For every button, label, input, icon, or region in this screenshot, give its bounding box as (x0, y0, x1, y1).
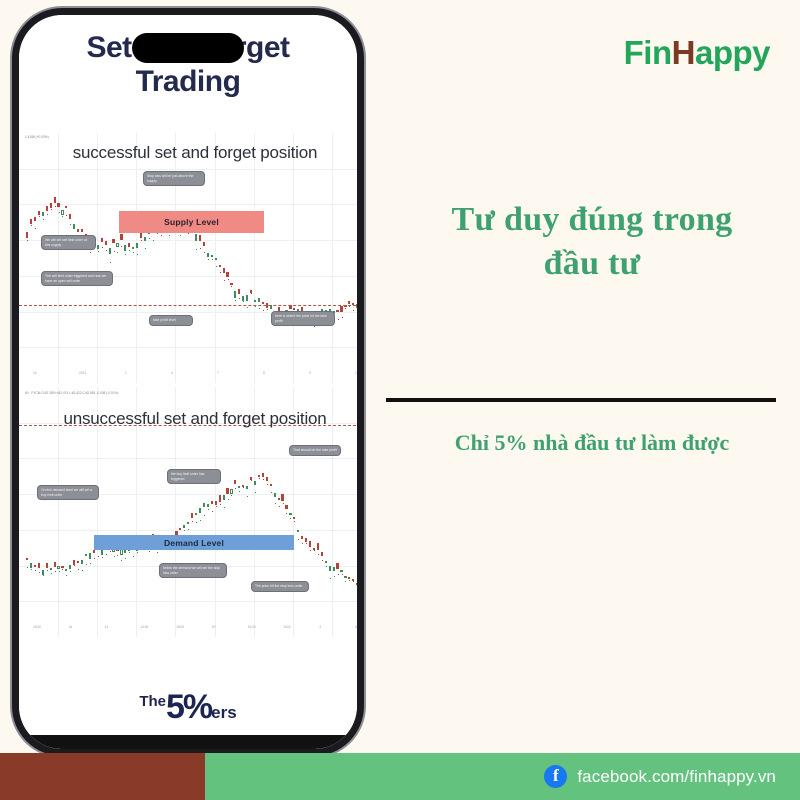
chart-1-dash-line (19, 305, 357, 306)
phone-mockup: Set and Forget Trading 1.4188 (+0.03%) s… (12, 8, 364, 756)
fiveers-number: 5% (166, 688, 211, 726)
axis-tick: 20 (212, 625, 216, 629)
axis-tick: 8 (263, 371, 265, 375)
dynamic-island (132, 33, 244, 63)
axis-tick: 7 (217, 371, 219, 375)
callout-price-hit-stop-loss: The price hit the stop loss order (251, 581, 309, 592)
axis-tick: 15:00 (33, 625, 41, 629)
chart-1-meta: 1.4188 (+0.03%) (25, 135, 49, 139)
callout-should-be-take-profit: That should be the take profit (289, 445, 341, 456)
fiveers-watermark: The5%ers (19, 688, 357, 727)
axis-tick: 21 (105, 625, 109, 629)
chart-pane-successful: 1.4188 (+0.03%) successful set and forge… (19, 133, 357, 383)
headline-line-1: Tư duy đúng trong (392, 198, 792, 242)
chart-2-x-axis: 15:00162112:0018:002019:00202436:00 (19, 625, 357, 635)
fiveers-suffix: ers (211, 703, 237, 722)
facebook-icon[interactable]: f (544, 765, 567, 788)
poster-canvas: FinHappy Tư duy đúng trong đầu tư Chỉ 5%… (0, 0, 800, 800)
subheadline: Chỉ 5% nhà đầu tư làm được (392, 430, 792, 456)
axis-tick: 16 (69, 625, 73, 629)
demand-level-zone: Demand Level (94, 535, 294, 550)
chart-1-x-axis: 1620242478910 (19, 371, 357, 381)
brand-part-h: H (672, 34, 695, 71)
phone-screen: Set and Forget Trading 1.4188 (+0.03%) s… (19, 15, 357, 749)
callout-sell-limit-order: We will set sell limit order at this sup… (41, 235, 96, 250)
screenshot-title-line-2: Trading (19, 65, 357, 99)
axis-tick: 10 (355, 371, 357, 375)
chart-1-caption: successful set and forget position (19, 143, 357, 163)
callout-demand-buy-limit: On this demand level we will set a buy l… (37, 485, 99, 500)
footer-facebook[interactable]: f facebook.com/finhappy.vn (544, 753, 776, 800)
axis-tick: 3 (319, 625, 321, 629)
axis-tick: 6:00 (355, 625, 357, 629)
chart-2-caption: unsuccessful set and forget position (19, 409, 357, 429)
axis-tick: 4 (171, 371, 173, 375)
chart-pane-unsuccessful: 60 · FXCM O:62.399 H:62.474 L:62.422 C:6… (19, 387, 357, 637)
chart-2-meta: 60 · FXCM O:62.399 H:62.474 L:62.422 C:6… (25, 391, 118, 395)
supply-level-zone: Supply Level (119, 211, 264, 233)
callout-below-demand-stop-loss: below the demand we will set the stop lo… (159, 563, 227, 578)
callout-sell-order-triggered: The sell limit order triggered and now w… (41, 271, 113, 286)
facebook-url[interactable]: facebook.com/finhappy.vn (577, 767, 776, 787)
axis-tick: 2024 (283, 625, 290, 629)
headline: Tư duy đúng trong đầu tư (392, 198, 792, 285)
axis-tick: 9 (309, 371, 311, 375)
axis-tick: 12:00 (140, 625, 148, 629)
brand-part-appy: appy (695, 34, 770, 71)
footer-brown-block (0, 753, 205, 800)
axis-tick: 2 (125, 371, 127, 375)
callout-price-hit-take-profit: here is where the price hit the take pro… (271, 311, 335, 326)
demand-level-label: Demand Level (164, 538, 224, 548)
callout-stop-loss-supply: Stop loss will be just above the supply (143, 171, 205, 186)
axis-tick: 18:00 (176, 625, 184, 629)
screen-bottom-bar (19, 735, 357, 749)
axis-tick: 19:00 (248, 625, 256, 629)
fiveers-the: The (139, 693, 166, 710)
brand-part-fin: Fin (624, 34, 672, 71)
callout-buy-limit-triggered: the buy limit order has triggered (167, 469, 221, 484)
supply-level-label: Supply Level (164, 217, 219, 227)
callout-take-profit-level: take profit level (149, 315, 193, 326)
axis-tick: 16 (33, 371, 37, 375)
headline-line-2: đầu tư (392, 242, 792, 286)
brand-logo: FinHappy (624, 34, 770, 72)
axis-tick: 2024 (79, 371, 86, 375)
divider-rule (386, 398, 776, 402)
